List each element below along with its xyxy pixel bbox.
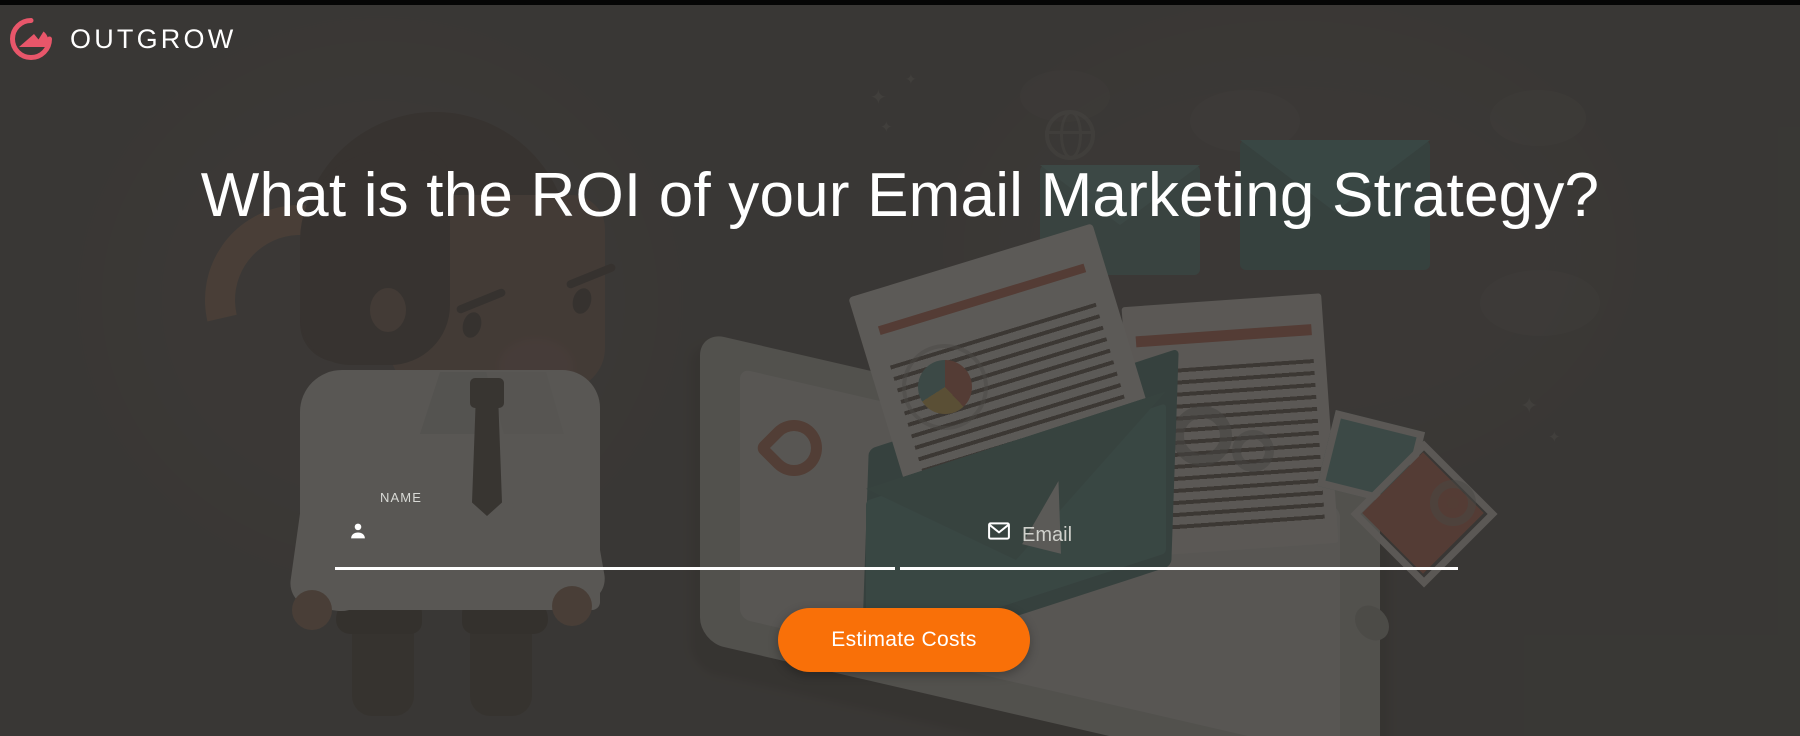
- lead-form: NAME: [0, 490, 1800, 570]
- estimate-costs-button[interactable]: Estimate Costs: [778, 608, 1030, 672]
- outgrow-circle-logo-icon: [8, 16, 54, 62]
- name-field-label: NAME: [380, 490, 422, 505]
- person-icon: [347, 520, 369, 542]
- name-input[interactable]: [380, 518, 885, 552]
- envelope-icon: [988, 522, 1010, 544]
- brand-logo[interactable]: OUTGROW: [8, 16, 236, 62]
- landing-page: ✦ ✦ ✦ ✦ ✦: [0, 0, 1800, 736]
- email-input[interactable]: [1022, 518, 1525, 552]
- email-field-group: [900, 490, 1458, 570]
- name-field-underline: [335, 567, 895, 570]
- top-bar: [0, 0, 1800, 5]
- brand-name: OUTGROW: [70, 24, 236, 55]
- name-field-group: NAME: [335, 490, 895, 570]
- email-field-underline: [900, 567, 1458, 570]
- page-title: What is the ROI of your Email Marketing …: [200, 160, 1600, 232]
